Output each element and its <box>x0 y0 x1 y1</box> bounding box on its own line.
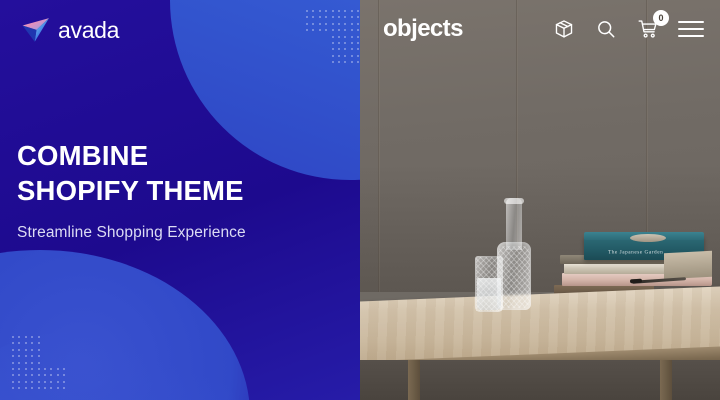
headline-line-2: SHOPIFY THEME <box>17 173 246 208</box>
dot-grid-top-right <box>306 10 360 66</box>
cart-count-badge: 0 <box>653 10 669 26</box>
hero-banner: avada COMBINE SHOPIFY THEME Streamline S… <box>0 0 720 400</box>
store-nav-icons: 0 <box>552 17 704 41</box>
cart-icon[interactable]: 0 <box>636 17 660 41</box>
photo-drinking-glass <box>475 256 503 312</box>
promo-subheadline: Streamline Shopping Experience <box>17 224 246 242</box>
avada-logo[interactable]: avada <box>21 17 119 43</box>
photo-book-title: The Japanese Garden <box>608 249 663 255</box>
product-photo-panel: The Japanese Garden objects <box>360 0 720 400</box>
promo-headline: COMBINE SHOPIFY THEME <box>17 138 246 208</box>
hamburger-icon[interactable] <box>678 21 704 37</box>
objects-brand-logo[interactable]: objects <box>383 17 463 41</box>
store-header: objects <box>360 0 720 58</box>
paper-plane-icon <box>21 17 51 43</box>
promo-panel: avada COMBINE SHOPIFY THEME Streamline S… <box>0 0 360 400</box>
package-icon[interactable] <box>552 17 576 41</box>
headline-line-1: COMBINE <box>17 138 246 173</box>
search-icon[interactable] <box>594 17 618 41</box>
dot-grid-bottom-left <box>12 336 70 394</box>
avada-logo-text: avada <box>58 19 119 42</box>
promo-copy: COMBINE SHOPIFY THEME Streamline Shoppin… <box>17 138 246 242</box>
